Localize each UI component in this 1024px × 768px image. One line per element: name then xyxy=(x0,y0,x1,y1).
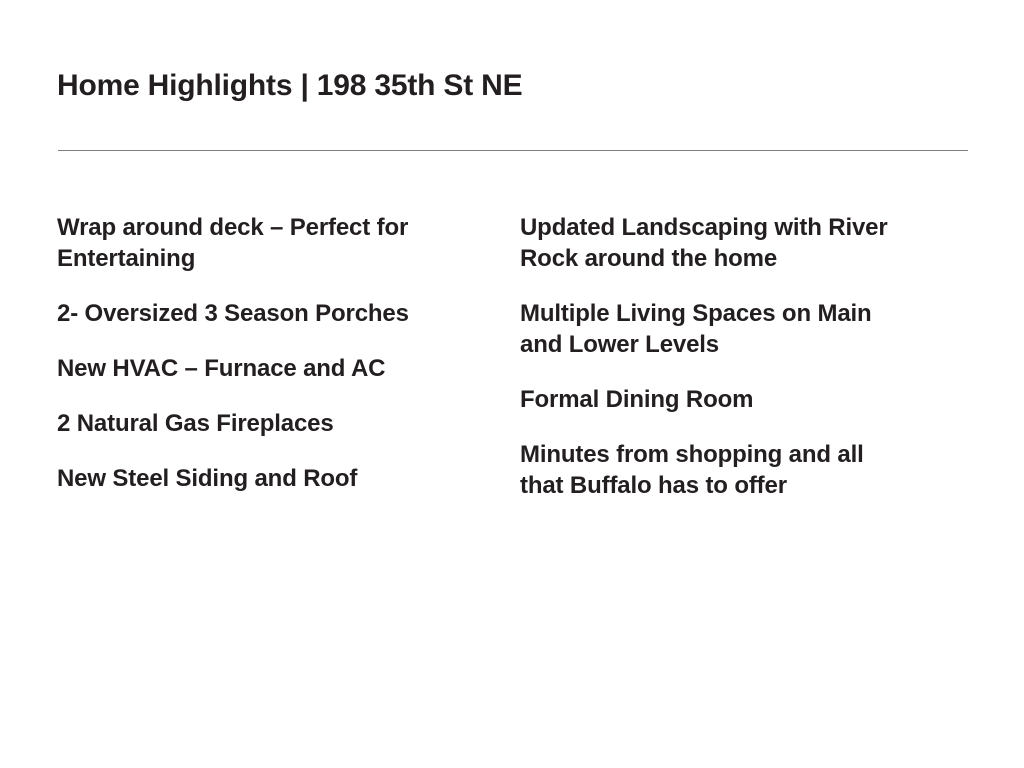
highlights-column-right: Updated Landscaping with River Rock arou… xyxy=(520,212,920,501)
list-item: 2- Oversized 3 Season Porches xyxy=(57,298,442,329)
list-item: New HVAC – Furnace and AC xyxy=(57,353,442,384)
list-item: New Steel Siding and Roof xyxy=(57,463,442,494)
list-item: Minutes from shopping and all that Buffa… xyxy=(520,439,912,501)
list-item: Formal Dining Room xyxy=(520,384,912,415)
list-item: 2 Natural Gas Fireplaces xyxy=(57,408,442,439)
highlights-columns: Wrap around deck – Perfect for Entertain… xyxy=(0,212,1024,542)
title-divider-rule xyxy=(58,150,968,151)
list-item: Wrap around deck – Perfect for Entertain… xyxy=(57,212,442,274)
list-item: Multiple Living Spaces on Main and Lower… xyxy=(520,298,912,360)
slide-canvas: Home Highlights | 198 35th St NE Wrap ar… xyxy=(0,0,1024,768)
page-title: Home Highlights | 198 35th St NE xyxy=(57,67,977,105)
list-item: Updated Landscaping with River Rock arou… xyxy=(520,212,912,274)
highlights-column-left: Wrap around deck – Perfect for Entertain… xyxy=(57,212,457,494)
